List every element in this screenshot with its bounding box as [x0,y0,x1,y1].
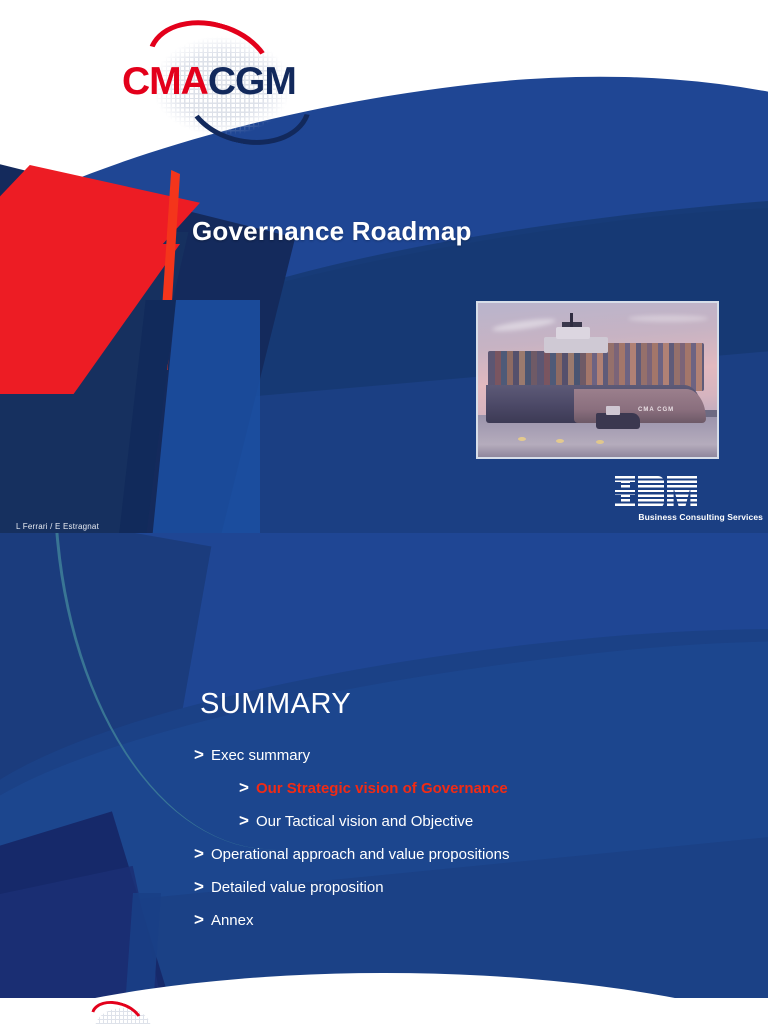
next-slide-peek [0,998,768,1024]
chevron-right-icon: > [194,845,204,862]
author-credit: L Ferrari / E Estragnat [16,522,99,531]
list-item[interactable]: > Our Tactical vision and Objective [239,812,734,829]
list-item-label: Our Tactical vision and Objective [256,814,473,829]
list-item-label: Annex [211,913,254,928]
photo-ship-mast [570,313,573,327]
photo-ship-bridge-2 [556,327,590,339]
container-ship-photo: CMA CGM [476,301,719,459]
list-item-label: Operational approach and value propositi… [211,847,510,862]
list-item[interactable]: > Annex [194,911,734,928]
chevron-right-icon: > [239,779,249,796]
list-item-label: Exec summary [211,748,310,763]
ibm-letter-i-icon [615,476,635,508]
photo-cloud-2 [628,315,708,322]
photo-ship-hull-2 [574,389,706,423]
chevron-right-icon: > [239,812,249,829]
chevron-right-icon: > [194,878,204,895]
slide-title: Governance Roadmap [192,216,472,247]
photo-hull-marking: CMA CGM [638,407,674,413]
summary-list: > Exec summary > Our Strategic vision of… [194,746,734,944]
ibm-letter-m-icon [667,476,697,508]
photo-tugboat [596,413,640,429]
ibm-logo: Business Consulting Services [613,476,763,524]
chevron-right-icon: > [194,746,204,763]
ibm-letter-b-icon [638,476,664,508]
ibm-tagline: Business Consulting Services [613,512,763,522]
list-item[interactable]: > Operational approach and value proposi… [194,845,734,862]
photo-buoy-2 [556,439,564,443]
cma-wordmark-red: CMA [122,60,208,103]
cma-cgm-wordmark: CMACGM [122,62,312,101]
list-item-label: Our Strategic vision of Governance [256,781,508,796]
chevron-right-icon: > [194,911,204,928]
ibm-wordmark [613,476,699,508]
photo-ship-bridge [544,337,608,353]
list-item[interactable]: > Exec summary [194,746,734,763]
summary-heading: SUMMARY [200,688,351,721]
slide-deck-page: CMACGM Governance Roadmap CMA CGM [0,0,768,1024]
list-item-label: Detailed value proposition [211,880,384,895]
cma-cgm-logo: CMACGM [122,16,312,151]
photo-buoy [518,437,526,441]
list-item[interactable]: > Our Strategic vision of Governance [239,779,734,796]
list-item[interactable]: > Detailed value proposition [194,878,734,895]
photo-buoy-3 [596,440,604,444]
photo-tugboat-cabin [606,406,620,415]
cma-wordmark-navy: CGM [208,60,296,103]
title-slide: CMACGM Governance Roadmap CMA CGM [0,0,768,533]
